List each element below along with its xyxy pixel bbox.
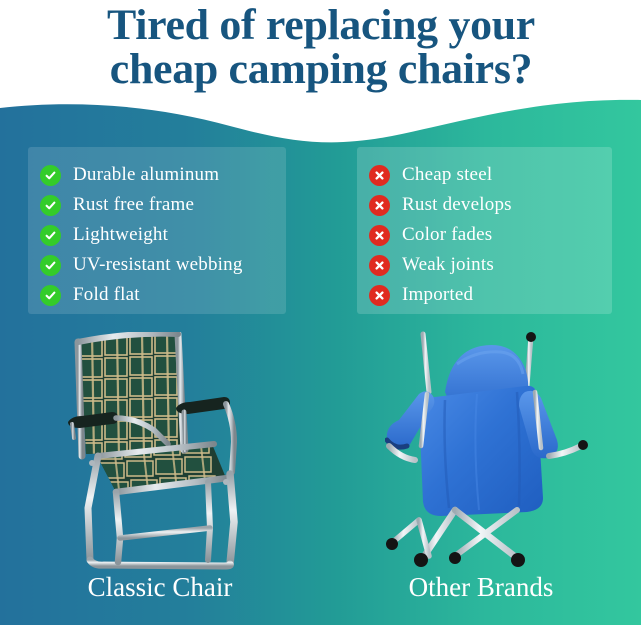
list-item: Rust free frame	[40, 191, 276, 219]
feature-label: Weak joints	[402, 255, 494, 275]
feature-label: Lightweight	[73, 225, 168, 245]
other-brand-chair-image	[385, 330, 600, 570]
page-title: Tired of replacing your cheap camping ch…	[15, 4, 627, 93]
list-item: Rust develops	[369, 191, 602, 219]
list-item: Lightweight	[40, 221, 276, 249]
feature-label: Cheap steel	[402, 165, 492, 185]
list-item: Imported	[369, 281, 602, 309]
infographic-root: Tired of replacing your cheap camping ch…	[0, 0, 641, 625]
check-icon	[40, 165, 61, 186]
check-icon	[40, 195, 61, 216]
feature-label: Imported	[402, 285, 473, 305]
list-item: Fold flat	[40, 281, 276, 309]
feature-label: UV-resistant webbing	[73, 255, 243, 275]
headline-line-1: Tired of replacing your	[15, 4, 627, 48]
other-brands-caption: Other Brands	[321, 572, 641, 603]
feature-label: Rust develops	[402, 195, 512, 215]
classic-chair-image	[58, 332, 280, 570]
headline-line-2: cheap camping chairs?	[15, 48, 627, 92]
list-item: Color fades	[369, 221, 602, 249]
feature-label: Durable aluminum	[73, 165, 219, 185]
header: Tired of replacing your cheap camping ch…	[0, 0, 641, 110]
check-icon	[40, 225, 61, 246]
feature-label: Rust free frame	[73, 195, 194, 215]
list-item: Weak joints	[369, 251, 602, 279]
feature-label: Fold flat	[73, 285, 140, 305]
cross-icon	[369, 165, 390, 186]
cons-list: Cheap steel Rust develops Color fades We…	[369, 161, 602, 309]
feature-label: Color fades	[402, 225, 492, 245]
cross-icon	[369, 195, 390, 216]
cross-icon	[369, 225, 390, 246]
cons-panel: Cheap steel Rust develops Color fades We…	[357, 147, 612, 314]
pros-list: Durable aluminum Rust free frame Lightwe…	[40, 161, 276, 309]
check-icon	[40, 285, 61, 306]
cross-icon	[369, 255, 390, 276]
list-item: Durable aluminum	[40, 161, 276, 189]
check-icon	[40, 255, 61, 276]
pros-panel: Durable aluminum Rust free frame Lightwe…	[28, 147, 286, 314]
classic-chair-caption: Classic Chair	[0, 572, 320, 603]
list-item: Cheap steel	[369, 161, 602, 189]
cross-icon	[369, 285, 390, 306]
list-item: UV-resistant webbing	[40, 251, 276, 279]
